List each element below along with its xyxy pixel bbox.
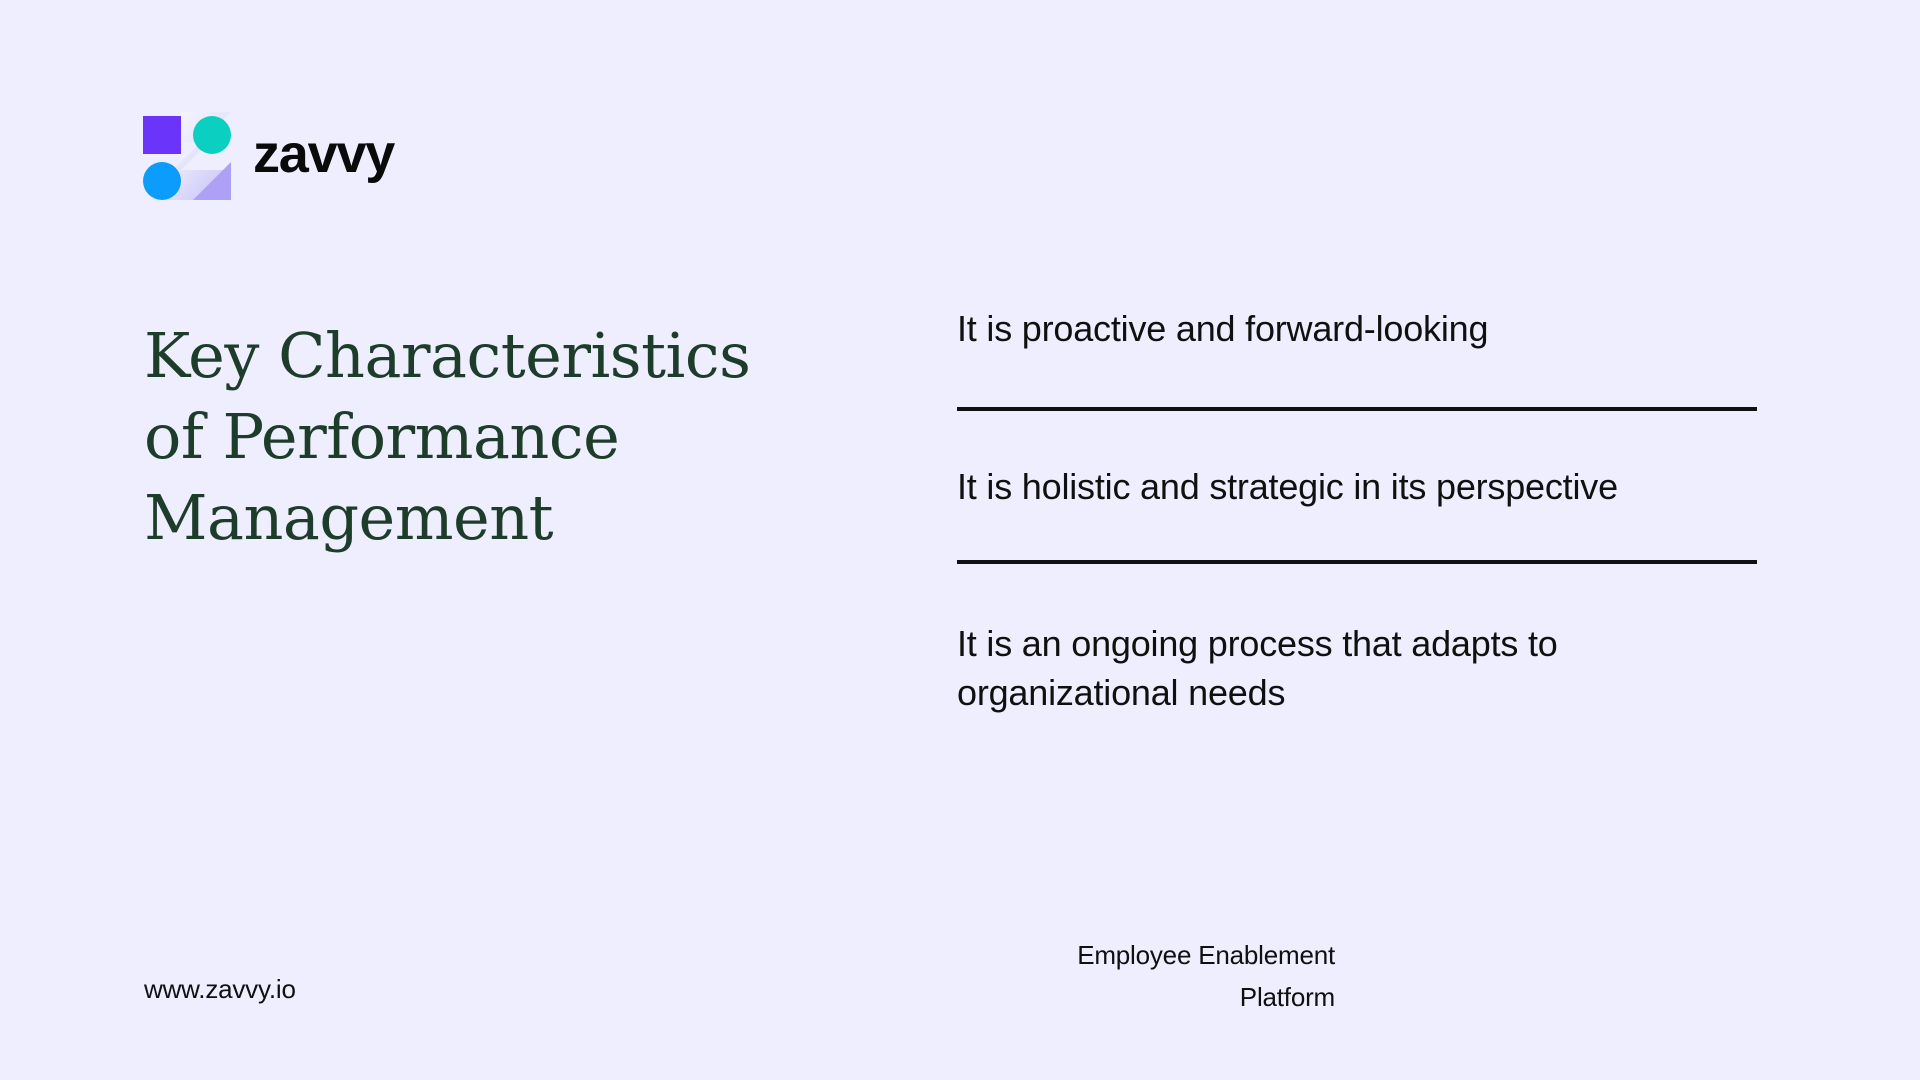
spacer [957,564,1777,620]
spacer [957,354,1777,407]
headline-line-3: Management [144,477,844,558]
brand-wordmark: zavvy [253,127,394,185]
headline-line-1: Key Characteristics [144,315,844,396]
brand-tagline: Employee Enablement Platform [935,935,1335,1018]
list-item: It is proactive and forward-looking [957,305,1777,354]
zavvy-logo-mark-icon [143,112,231,200]
characteristics-list: It is proactive and forward-looking It i… [957,305,1777,718]
spacer [957,411,1777,463]
headline-line-2: of Performance [144,396,844,477]
slide-canvas: zavvy Key Characteristics of Performance… [0,0,1920,1080]
brand-logo[interactable]: zavvy [143,112,394,200]
spacer [957,512,1777,560]
page-title: Key Characteristics of Performance Manag… [144,315,844,559]
tagline-line-2: Platform [935,977,1335,1019]
tagline-line-1: Employee Enablement [935,935,1335,977]
list-item: It is holistic and strategic in its pers… [957,463,1777,512]
site-url[interactable]: www.zavvy.io [144,974,296,1005]
list-item: It is an ongoing process that adapts to … [957,620,1777,718]
